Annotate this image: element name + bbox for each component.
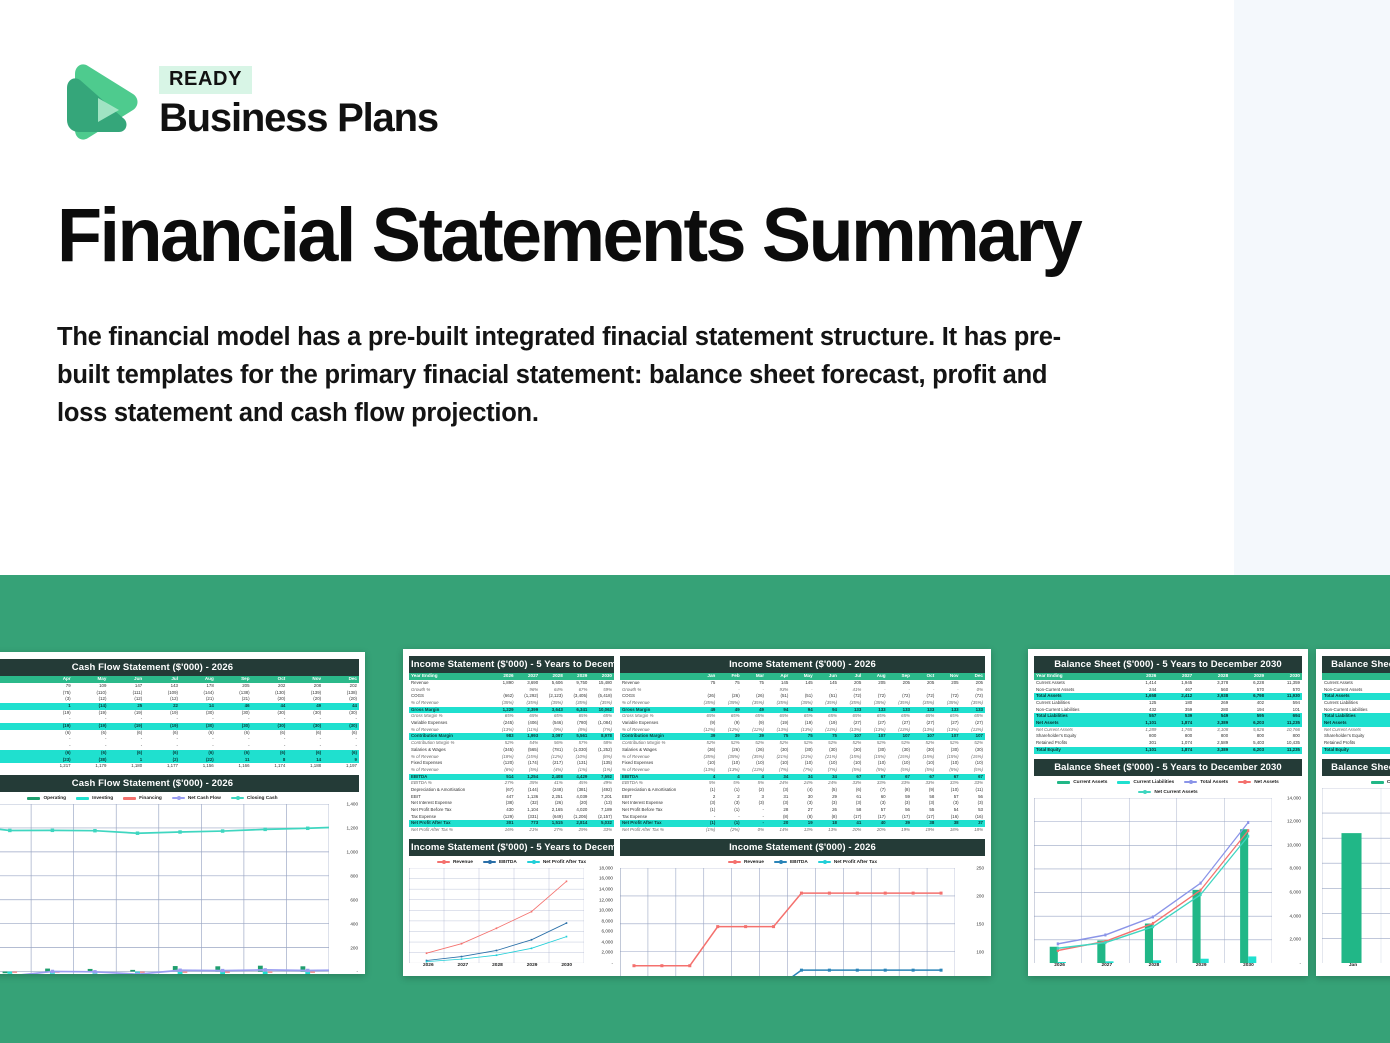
cell: 4 <box>693 774 717 781</box>
cell: 202 <box>323 683 359 690</box>
cell: 11 <box>216 757 252 764</box>
cell: (10) <box>863 760 887 767</box>
cell: (3) <box>766 800 790 807</box>
legend-swatch <box>1057 781 1070 784</box>
cell: (35%) <box>491 700 516 707</box>
cell: (5%) <box>839 767 863 774</box>
cell: 65% <box>589 713 614 720</box>
cell: 5,561 <box>565 733 590 740</box>
row-label: % of Revenue <box>620 700 693 707</box>
cell: - <box>252 716 288 723</box>
cell: 107 <box>888 733 912 740</box>
cell: (10) <box>742 760 766 767</box>
cell: 2,408 <box>540 774 565 781</box>
chart-title: Cash Flow Statement ($'000) - 2026 <box>0 775 359 792</box>
cell: - <box>73 716 109 723</box>
col-header-Apr: Apr <box>37 676 73 683</box>
cell: 20 <box>766 820 790 827</box>
table-row: Gross Margin1,2292,3993,6436,34110,062 <box>409 707 614 714</box>
cell: 94 <box>790 707 814 714</box>
cell: 31 <box>766 794 790 801</box>
cell: (3) <box>766 787 790 794</box>
row-label: Tax Expense <box>620 814 693 821</box>
legend-label: Operating <box>43 796 66 801</box>
cell: 65% <box>565 713 590 720</box>
cell: - <box>323 736 359 743</box>
cell: (5,418) <box>589 693 614 700</box>
cell: (1,084) <box>589 720 614 727</box>
cell: - <box>742 814 766 821</box>
table-row: Gross Margin4949499494941331331331331331… <box>620 707 985 714</box>
cell: - <box>323 716 359 723</box>
table-row: Net Current Assets1,2751,251 <box>1322 727 1390 734</box>
cell: 800 <box>1266 733 1302 740</box>
cell: (6) <box>323 750 359 757</box>
cell: 799 <box>1381 720 1390 727</box>
cell: (7%) <box>766 767 790 774</box>
cell: (27) <box>839 720 863 727</box>
cell: (51) <box>790 693 814 700</box>
table-row: Non-Current Liabilities495489 <box>1322 707 1390 714</box>
cell: (30) <box>912 747 936 754</box>
col-header-Sep: Sep <box>888 673 912 680</box>
row-label: Salaries & Wages <box>409 747 491 754</box>
cell: (10) <box>961 760 985 767</box>
row-label: Contribution Margin <box>620 733 693 740</box>
cell: (9) <box>742 720 766 727</box>
cell: (7%) <box>815 767 839 774</box>
table-row: Tax Paid(3)(12)(12)(12)(21)(21)(20)(20)(… <box>0 696 359 703</box>
cell: 133 <box>912 707 936 714</box>
y-tick: 12,000 <box>599 897 613 902</box>
table-row: Loan Repayments(6)(6)(6)(6)(6)(6)(6)(6)(… <box>0 730 359 737</box>
cell: (51) <box>815 693 839 700</box>
cell: 34 <box>766 774 790 781</box>
cell: (35%) <box>912 700 936 707</box>
col-header-May: May <box>73 676 109 683</box>
cell: 3,389 <box>1194 747 1230 754</box>
cell: (1) <box>693 787 717 794</box>
cell: (23) <box>37 757 73 764</box>
table-row: EBIT4471,1362,2514,0397,201 <box>409 794 614 801</box>
cell: 64% <box>540 687 565 694</box>
chart-balance-5yr: Balance Sheet ($'000) - 5 Years to Decem… <box>1034 759 1302 968</box>
row-label: Asset Disposals <box>0 716 37 723</box>
pane-cash-flow: Cash Flow Statement ($'000) - 2026AprMay… <box>0 659 359 966</box>
cell: (22) <box>180 757 216 764</box>
col-header-Nov: Nov <box>936 673 960 680</box>
cell: - <box>216 743 252 750</box>
cell: - <box>742 807 766 814</box>
cell: 133 <box>863 707 887 714</box>
plot-area <box>1322 788 1390 963</box>
cell: (30) <box>216 723 252 730</box>
cell: 560 <box>1194 687 1230 694</box>
y-tick: 14,000 <box>1287 795 1301 800</box>
table-row: Total Assets1,3591,359 <box>1322 693 1390 700</box>
cell: (406) <box>516 720 541 727</box>
cell: 4,020 <box>565 807 590 814</box>
legend-swatch <box>527 861 540 863</box>
table-row: Closing Cash1,2171,1791,1801,1771,1561,1… <box>0 763 359 770</box>
cell: (6) <box>839 787 863 794</box>
row-label: EBITDA % <box>620 780 693 787</box>
cell: (11%) <box>516 727 541 734</box>
legend-label: EBITDA <box>499 860 517 865</box>
table-row: Total Liabilities560561 <box>1322 713 1390 720</box>
cell: (110) <box>73 690 109 697</box>
sheet-table: AprMayJunJulAugSepOctNovDecOperating Rec… <box>0 676 359 770</box>
cell: (30) <box>766 747 790 754</box>
cell: (6) <box>287 750 323 757</box>
row-label: Net Assets <box>1034 720 1122 727</box>
cell: (138) <box>216 690 252 697</box>
cell: 145 <box>766 680 790 687</box>
legend-item: Net Profit After Tax <box>527 860 586 865</box>
row-label: Depreciation & Amortisation <box>620 787 693 794</box>
cell: (27) <box>961 720 985 727</box>
col-header-2026: 2026 <box>491 673 516 680</box>
row-label: Non-Current Assets <box>1322 687 1381 694</box>
cell: (248) <box>540 787 565 794</box>
cell: 1,229 <box>491 707 516 714</box>
cell: 1,101 <box>1122 747 1158 754</box>
cell: (9) <box>912 787 936 794</box>
cell: (21%) <box>766 754 790 761</box>
cell: 133 <box>839 707 863 714</box>
cell: 38 <box>912 820 936 827</box>
cell: 514 <box>491 774 516 781</box>
cell: 6,203 <box>1230 747 1266 754</box>
table-row: Net Profit Before Tax4301,1042,1654,0207… <box>409 807 614 814</box>
cell: 143 <box>144 683 180 690</box>
cell: (10) <box>912 760 936 767</box>
cell: 3,643 <box>540 707 565 714</box>
cell: 14% <box>766 827 790 834</box>
cell: 1,179 <box>73 763 109 770</box>
col-header-Mar: Mar <box>742 673 766 680</box>
cell: 56 <box>888 807 912 814</box>
x-tick: 2027 <box>1083 963 1130 968</box>
cell: (35%) <box>815 700 839 707</box>
legend-swatch <box>483 861 496 863</box>
right-accent-panel <box>1234 0 1390 575</box>
cell: (30) <box>180 710 216 717</box>
cell: (35%) <box>589 700 614 707</box>
table-row: Revenue757575145145145205205205205205205 <box>620 680 985 687</box>
cell: - <box>73 743 109 750</box>
cell: (174) <box>516 760 541 767</box>
cell: - <box>144 716 180 723</box>
cell: 67% <box>565 687 590 694</box>
cell: (35%) <box>540 700 565 707</box>
row-label: Contribution Margin % <box>620 740 693 747</box>
cell: 39 <box>693 733 717 740</box>
row-label: Gross Margin <box>409 707 491 714</box>
cell: 44 <box>323 703 359 710</box>
col-header-Jun: Jun <box>815 673 839 680</box>
cell: - <box>287 716 323 723</box>
legend-label: Investing <box>92 796 113 801</box>
cell: 65% <box>766 713 790 720</box>
chart-legend: Current AssetsCurrent LiabilitiesTotal A… <box>1034 776 1302 798</box>
cell: (2,157) <box>589 814 614 821</box>
cell: - <box>37 736 73 743</box>
legend-label: EBITDA <box>790 860 808 865</box>
cell: (1) <box>717 820 741 827</box>
row-label: Revenue <box>620 680 693 687</box>
legend-item: Current Liabilities <box>1117 780 1174 785</box>
cell: (13%) <box>742 767 766 774</box>
legend-item: Net Current Assets <box>1138 790 1197 795</box>
table-row: % of Revenue(6%)(5%)(4%)(1%)(1%) <box>409 767 614 774</box>
cell: 0% <box>742 827 766 834</box>
cell: 18% <box>936 827 960 834</box>
sheet-title: Balance Sheet ($'000) - 5 Years to Decem… <box>1034 656 1302 673</box>
row-label: Net Assets <box>1322 720 1381 727</box>
table-row: Operating Receipts7910914714317820520220… <box>0 683 359 690</box>
sheet-title: Balance Sheet ($'000) - 2026 <box>1322 656 1390 673</box>
cell: 147 <box>108 683 144 690</box>
cell: 33% <box>863 780 887 787</box>
cell: 19 <box>790 820 814 827</box>
cell: 21% <box>516 827 541 834</box>
cell: (6) <box>73 730 109 737</box>
col-header-Nov: Nov <box>287 676 323 683</box>
cell: (35%) <box>888 700 912 707</box>
x-tick: 2030 <box>1225 963 1272 968</box>
table-row: Net Profit After Tax %(1%)(2%)0%14%13%13… <box>620 827 985 834</box>
cell: 2,589 <box>1194 740 1230 747</box>
cell: 11,235 <box>1266 747 1302 754</box>
legend-item: Current Assets <box>1371 780 1390 785</box>
cell: - <box>717 687 741 694</box>
cell: 52% <box>717 740 741 747</box>
cell: (6) <box>108 730 144 737</box>
cell: (30) <box>287 710 323 717</box>
cell: (6) <box>144 750 180 757</box>
cell: (30) <box>936 747 960 754</box>
cell: 13% <box>815 827 839 834</box>
card-income[interactable]: Income Statement ($'000) - 5 Years to De… <box>403 649 991 976</box>
cell: 19% <box>888 827 912 834</box>
row-label: Retained Profits <box>1322 740 1381 747</box>
cell: 2,412 <box>1158 693 1194 700</box>
col-header-label: Year Ending <box>409 673 491 680</box>
row-label: Total Assets <box>1034 693 1122 700</box>
cell: 94 <box>815 707 839 714</box>
col-header-2028: 2028 <box>540 673 565 680</box>
table-row: Gross Margin %65%65%65%65%65% <box>409 713 614 720</box>
row-label: Net Profit After Tax % <box>620 827 693 834</box>
cell: (35%) <box>766 700 790 707</box>
col-header-Apr: Apr <box>766 673 790 680</box>
cell: 49% <box>589 780 614 787</box>
cell: (19) <box>144 710 180 717</box>
pane-income-5yr: Income Statement ($'000) - 5 Years to De… <box>409 656 614 968</box>
cell: (15%) <box>516 754 541 761</box>
cell: 33% <box>936 780 960 787</box>
cell: (2%) <box>717 827 741 834</box>
row-label: Net Cash Flow <box>0 757 37 764</box>
legend-label: Financing <box>139 796 162 801</box>
legend-item: Net Assets <box>1238 780 1279 785</box>
y-tick: 10,000 <box>1287 842 1301 847</box>
legend-label: Net Current Assets <box>1154 790 1197 795</box>
table-row: Net Profit After Tax %16%21%27%29%33% <box>409 827 614 834</box>
cell: 205 <box>936 680 960 687</box>
cell: (13) <box>589 800 614 807</box>
cell: 570 <box>1230 687 1266 694</box>
cell: 75 <box>742 680 766 687</box>
cell: 107 <box>936 733 960 740</box>
cell: 18 <box>1381 687 1390 694</box>
table-row: Variable Expenses(9)(9)(9)(19)(19)(19)(2… <box>620 720 985 727</box>
cell: (2) <box>742 787 766 794</box>
row-label: Gross Margin % <box>620 713 693 720</box>
y-tick: 1,200 <box>347 825 359 830</box>
brand-logo[interactable]: READY Business Plans <box>57 58 438 148</box>
cell: 8,978 <box>589 733 614 740</box>
row-label: Depreciation & Amortisation <box>409 787 491 794</box>
y-axis: 25020015010050-(50) <box>955 868 985 976</box>
y-tick: 400 <box>350 921 358 926</box>
cell: (6) <box>37 730 73 737</box>
cell: (120) <box>491 760 516 767</box>
cell: 1,993 <box>516 733 541 740</box>
cell: - <box>108 736 144 743</box>
table-row: % of Revenue(13%)(11%)(9%)(8%)(7%) <box>409 727 614 734</box>
cell: 65% <box>491 713 516 720</box>
cell: (26) <box>742 693 766 700</box>
cell: 5,403 <box>1230 740 1266 747</box>
col-header-Dec: Dec <box>323 676 359 683</box>
cell: 24% <box>790 780 814 787</box>
cell: (26) <box>742 747 766 754</box>
cell: - <box>180 743 216 750</box>
row-label: Variable Expenses <box>409 720 491 727</box>
cell: 5% <box>742 780 766 787</box>
cell: 800 <box>1230 733 1266 740</box>
cell: 27 <box>790 807 814 814</box>
cell: (1) <box>693 807 717 814</box>
cell: 301 <box>1122 740 1158 747</box>
cell: 53 <box>961 807 985 814</box>
table-row: % of Revenue(13%)(13%)(13%)(7%)(7%)(7%)(… <box>620 767 985 774</box>
cell: 11,930 <box>1266 693 1302 700</box>
cell: 145 <box>815 680 839 687</box>
cell: 1,217 <box>37 763 73 770</box>
cell: (14) <box>73 703 109 710</box>
cell: (111) <box>108 690 144 697</box>
y-tick: 600 <box>350 897 358 902</box>
col-header-label: Year Ending <box>1034 673 1122 680</box>
row-label: Total Equity <box>1322 747 1381 754</box>
table-row: Current Liabilities125180269402594 <box>1034 700 1302 707</box>
plot-area <box>0 804 329 974</box>
cell: (8) <box>790 814 814 821</box>
cell: 1,166 <box>216 763 252 770</box>
x-tick: 2030 <box>549 963 584 968</box>
table-row: Fixed Expenses(10)(10)(10)(10)(10)(10)(1… <box>620 760 985 767</box>
cell: 359 <box>1158 707 1194 714</box>
cell: (15%) <box>912 754 936 761</box>
cell: (21%) <box>815 754 839 761</box>
cell: (3,405) <box>565 693 590 700</box>
cell: 52% <box>766 740 790 747</box>
card-balance-5yr[interactable]: Balance Sheet ($'000) - 5 Years to Decem… <box>1028 649 1308 976</box>
cell: 133 <box>936 707 960 714</box>
cell: 1,156 <box>180 763 216 770</box>
cell: (13%) <box>717 767 741 774</box>
cell: 1,359 <box>1381 693 1390 700</box>
table-row: Contribution Margin9831,9933,0975,5618,9… <box>409 733 614 740</box>
cell: 41% <box>839 687 863 694</box>
cell: (9) <box>693 720 717 727</box>
row-label: COGS <box>620 693 693 700</box>
card-cash-flow[interactable]: Cash Flow Statement ($'000) - 2026AprMay… <box>0 652 365 974</box>
cell: 1,074 <box>1158 740 1194 747</box>
y-tick: 250 <box>976 865 984 870</box>
cell: 67 <box>863 774 887 781</box>
card-balance-2026[interactable]: Balance Sheet ($'000) - 2026JanFebCurren… <box>1316 649 1390 976</box>
cell: (5%) <box>912 767 936 774</box>
cell: 145 <box>790 680 814 687</box>
cell: 65% <box>961 713 985 720</box>
legend-label: Net Profit After Tax <box>834 860 877 865</box>
table-row: Retained Profits3011,0742,5895,40310,435 <box>1034 740 1302 747</box>
cell: 6,798 <box>1230 693 1266 700</box>
cell: (12%) <box>540 754 565 761</box>
legend-item: Current Assets <box>1057 780 1107 785</box>
cell: 107 <box>912 733 936 740</box>
cell: 49 <box>742 707 766 714</box>
table-row: Net Profit After Tax(1)(1)-2019184140393… <box>620 820 985 827</box>
cell: 0% <box>961 687 985 694</box>
legend-label: Net Assets <box>1254 780 1279 785</box>
y-tick: 2,000 <box>602 950 614 955</box>
cell: 44 <box>252 703 288 710</box>
cell: (131) <box>565 760 590 767</box>
cell: 800 <box>1194 733 1230 740</box>
cell: 549 <box>1194 713 1230 720</box>
cell: (19) <box>37 723 73 730</box>
cell: 3 <box>742 794 766 801</box>
cell: - <box>216 716 252 723</box>
col-header-label <box>620 673 693 680</box>
cell: (15%) <box>936 754 960 761</box>
cell: (3) <box>693 800 717 807</box>
sheet-table: Year Ending20262027202820292030Current A… <box>1034 673 1302 754</box>
cell: (10) <box>936 760 960 767</box>
legend-label: Current Liabilities <box>1133 780 1174 785</box>
row-label: Current Liabilities <box>1322 700 1381 707</box>
cell: (10) <box>693 760 717 767</box>
cell: (1) <box>717 807 741 814</box>
row-label: Total Equity <box>1034 747 1122 754</box>
cell: (10) <box>790 760 814 767</box>
cell: (20) <box>565 800 590 807</box>
cell: (35%) <box>936 700 960 707</box>
cell: (26) <box>540 800 565 807</box>
cell: (10) <box>766 760 790 767</box>
x-tick: 2028 <box>1130 963 1177 968</box>
cell: (27) <box>888 720 912 727</box>
table-row: Non-Current Assets1836 <box>1322 687 1390 694</box>
table-row: COGS(26)(26)(26)(51)(51)(51)(72)(72)(72)… <box>620 693 985 700</box>
cell: (3) <box>790 800 814 807</box>
cell: (19) <box>790 720 814 727</box>
